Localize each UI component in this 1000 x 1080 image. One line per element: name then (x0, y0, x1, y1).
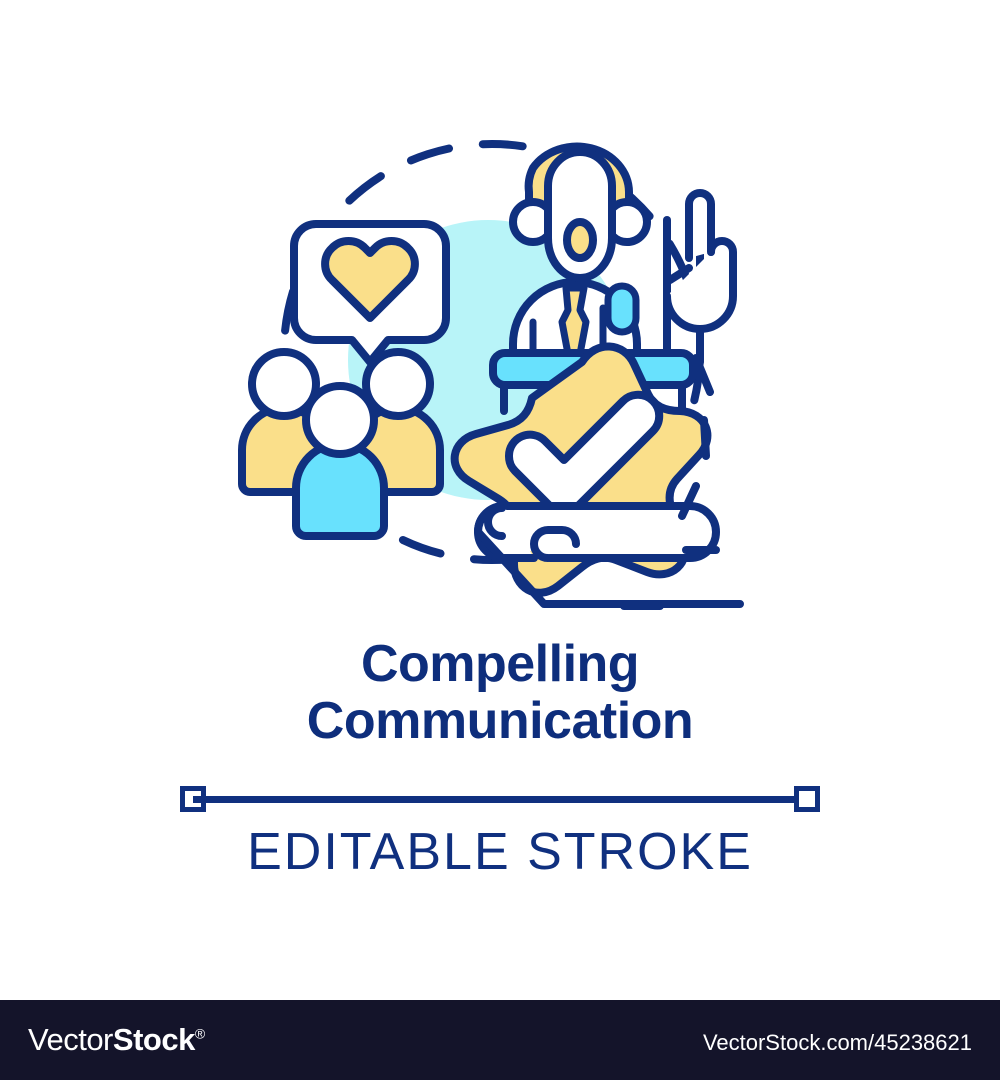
logo-vector-text: Vector (28, 1022, 113, 1057)
audience-person-front (296, 386, 384, 536)
watermark-footer: VectorStock® VectorStock.com/45238621 (0, 1000, 1000, 1080)
resize-handle-right[interactable] (794, 786, 820, 812)
concept-icon-canvas: Compelling Communication EDITABLE STROKE… (0, 0, 1000, 1080)
registered-mark-icon: ® (195, 1026, 205, 1042)
illustration-area (230, 90, 770, 630)
vectorstock-logo: VectorStock® (28, 1022, 205, 1058)
title-line-2: Communication (0, 693, 1000, 750)
stock-url: VectorStock.com/45238621 (703, 1030, 972, 1056)
divider (180, 786, 820, 812)
heart-speech-bubble (294, 224, 446, 362)
page-title: Compelling Communication (0, 636, 1000, 750)
title-line-1: Compelling (0, 636, 1000, 693)
editable-stroke-label: EDITABLE STROKE (0, 822, 1000, 882)
audience-group (242, 352, 440, 536)
divider-rule (193, 796, 807, 803)
logo-stock-text: Stock (113, 1022, 195, 1057)
